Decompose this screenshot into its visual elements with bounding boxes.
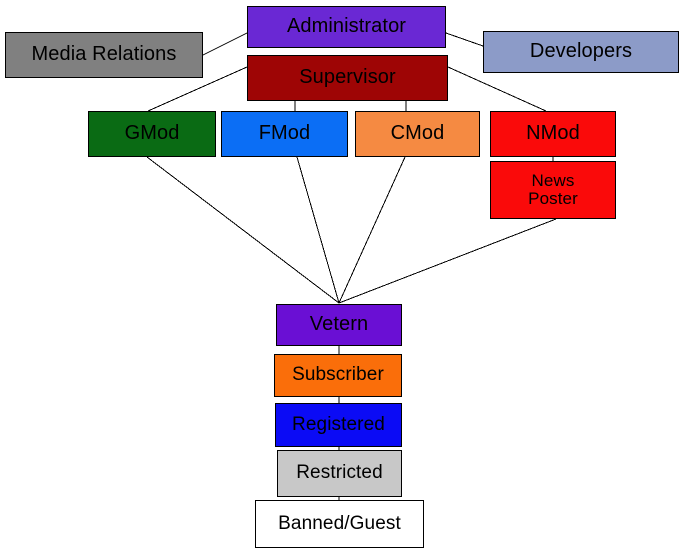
node-label-cmod: CMod	[356, 123, 479, 145]
node-label-developers: Developers	[484, 41, 678, 63]
node-media-relations[interactable]: Media Relations	[5, 32, 203, 78]
node-banned-guest[interactable]: Banned/Guest	[255, 500, 424, 548]
edge-news-poster-vetern	[339, 219, 556, 303]
node-registered[interactable]: Registered	[275, 403, 402, 447]
node-label-restricted: Restricted	[278, 463, 401, 484]
node-label-supervisor: Supervisor	[248, 67, 447, 89]
edge-media-relations-administrator	[203, 33, 247, 55]
node-vetern[interactable]: Vetern	[276, 304, 402, 346]
node-supervisor[interactable]: Supervisor	[247, 55, 448, 101]
node-label-media-relations: Media Relations	[6, 44, 202, 66]
edge-supervisor-nmod	[448, 67, 546, 111]
edge-gmod-vetern	[147, 157, 339, 303]
node-label-gmod: GMod	[89, 123, 215, 145]
node-label-news-poster: News Poster	[491, 172, 615, 209]
node-label-administrator: Administrator	[248, 16, 445, 38]
node-fmod[interactable]: FMod	[221, 111, 348, 157]
node-nmod[interactable]: NMod	[490, 111, 616, 157]
node-label-vetern: Vetern	[277, 314, 401, 336]
node-administrator[interactable]: Administrator	[247, 6, 446, 48]
edge-fmod-vetern	[297, 157, 339, 303]
node-gmod[interactable]: GMod	[88, 111, 216, 157]
node-label-fmod: FMod	[222, 123, 347, 145]
node-label-nmod: NMod	[491, 123, 615, 145]
node-label-banned-guest: Banned/Guest	[256, 514, 423, 535]
edge-administrator-developers	[446, 33, 483, 46]
node-subscriber[interactable]: Subscriber	[274, 354, 402, 397]
node-developers[interactable]: Developers	[483, 31, 679, 73]
node-restricted[interactable]: Restricted	[277, 450, 402, 497]
edge-cmod-vetern	[339, 157, 405, 303]
node-label-subscriber: Subscriber	[275, 365, 401, 386]
hierarchy-diagram: Media RelationsAdministratorDevelopersSu…	[0, 0, 685, 553]
node-news-poster[interactable]: News Poster	[490, 161, 616, 219]
node-cmod[interactable]: CMod	[355, 111, 480, 157]
node-label-registered: Registered	[276, 415, 401, 436]
